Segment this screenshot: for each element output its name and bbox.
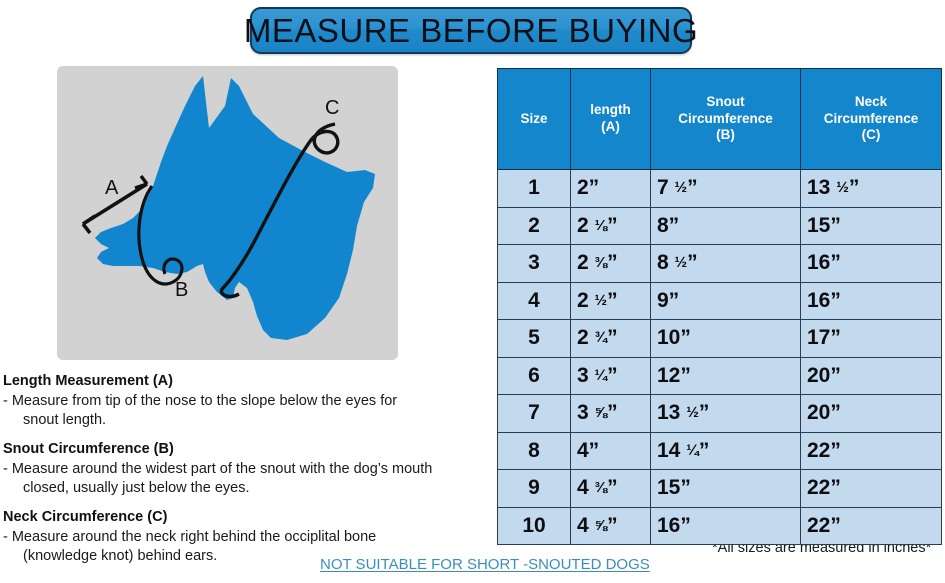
table-row: 12”7 ½”13 ½” xyxy=(498,170,942,208)
column-header-snout-circumference: Snout Circumference (B) xyxy=(651,69,801,170)
column-header-line-2: (A) xyxy=(601,119,620,134)
column-header-neck-circumference: Neck Circumference (C) xyxy=(801,69,942,170)
table-row: 84”14 ¼”22” xyxy=(498,432,942,470)
cell-size: 3 xyxy=(498,245,571,283)
cell-snout-circumference: 7 ½” xyxy=(651,170,801,208)
page-title: MEASURE BEFORE BUYING xyxy=(244,12,698,50)
cell-neck-circumference: 16” xyxy=(801,282,942,320)
cell-snout-circumference: 15” xyxy=(651,470,801,508)
label-b: B xyxy=(175,279,188,301)
instruction-line-2: snout length. xyxy=(7,411,491,431)
column-header-size: Size xyxy=(498,69,571,170)
cell-snout-circumference: 16” xyxy=(651,507,801,545)
table-row: 104 ⅝”16”22” xyxy=(498,507,942,545)
instruction-group-length: Length Measurement (A) - Measure from ti… xyxy=(3,372,491,431)
cell-neck-circumference: 20” xyxy=(801,357,942,395)
table-row: 42 ½”9”16” xyxy=(498,282,942,320)
dog-head-diagram: A B C xyxy=(57,66,398,360)
cell-neck-circumference: 13 ½” xyxy=(801,170,942,208)
cell-snout-circumference: 10” xyxy=(651,320,801,358)
cell-size: 9 xyxy=(498,470,571,508)
instruction-line-1: - Measure around the widest part of the … xyxy=(3,461,432,477)
cell-length: 2 ¾” xyxy=(571,320,651,358)
column-header-line-2: Circumference xyxy=(824,111,919,126)
instruction-heading-neck: Neck Circumference (C) xyxy=(3,508,491,527)
table-header-row: Size length (A) Snout Circumference (B) … xyxy=(498,69,942,170)
cell-snout-circumference: 12” xyxy=(651,357,801,395)
page-title-banner: MEASURE BEFORE BUYING xyxy=(250,7,692,54)
cell-size: 7 xyxy=(498,395,571,433)
measurement-instructions: Length Measurement (A) - Measure from ti… xyxy=(3,372,491,576)
instruction-line-2: closed, usually just below the eyes. xyxy=(7,479,491,499)
column-header-line-1: Neck xyxy=(855,94,887,109)
cell-snout-circumference: 8” xyxy=(651,207,801,245)
cell-length: 2” xyxy=(571,170,651,208)
label-a: A xyxy=(105,177,119,199)
column-header-line-1: length xyxy=(590,102,631,117)
cell-length: 2 ⅛” xyxy=(571,207,651,245)
not-suitable-note: NOT SUITABLE FOR SHORT -SNOUTED DOGS xyxy=(320,556,650,573)
cell-neck-circumference: 22” xyxy=(801,470,942,508)
column-header-line-1: Snout xyxy=(706,94,744,109)
table-row: 63 ¼”12”20” xyxy=(498,357,942,395)
cell-snout-circumference: 13 ½” xyxy=(651,395,801,433)
table-row: 94 ⅜”15”22” xyxy=(498,470,942,508)
column-header-length: length (A) xyxy=(571,69,651,170)
cell-size: 4 xyxy=(498,282,571,320)
cell-length: 2 ½” xyxy=(571,282,651,320)
cell-neck-circumference: 16” xyxy=(801,245,942,283)
cell-size: 2 xyxy=(498,207,571,245)
cell-length: 4 ⅜” xyxy=(571,470,651,508)
instruction-body-length: - Measure from tip of the nose to the sl… xyxy=(3,392,491,431)
column-header-line-3: (C) xyxy=(862,127,881,142)
column-header-line-1: Size xyxy=(520,111,547,126)
column-header-line-2: Circumference xyxy=(678,111,773,126)
table-row: 22 ⅛”8”15” xyxy=(498,207,942,245)
table-row: 73 ⅝”13 ½”20” xyxy=(498,395,942,433)
instruction-group-snout: Snout Circumference (B) - Measure around… xyxy=(3,440,491,499)
cell-neck-circumference: 22” xyxy=(801,507,942,545)
instruction-body-snout: - Measure around the widest part of the … xyxy=(3,460,491,499)
cell-neck-circumference: 20” xyxy=(801,395,942,433)
instruction-heading-snout: Snout Circumference (B) xyxy=(3,440,491,459)
cell-size: 1 xyxy=(498,170,571,208)
cell-snout-circumference: 9” xyxy=(651,282,801,320)
cell-snout-circumference: 8 ½” xyxy=(651,245,801,283)
instruction-line-1: - Measure around the neck right behind t… xyxy=(3,529,376,545)
cell-size: 10 xyxy=(498,507,571,545)
cell-length: 3 ⅝” xyxy=(571,395,651,433)
instruction-heading-length: Length Measurement (A) xyxy=(3,372,491,391)
cell-length: 3 ¼” xyxy=(571,357,651,395)
cell-size: 5 xyxy=(498,320,571,358)
cell-neck-circumference: 17” xyxy=(801,320,942,358)
cell-size: 8 xyxy=(498,432,571,470)
instruction-line-1: - Measure from tip of the nose to the sl… xyxy=(3,393,397,409)
cell-neck-circumference: 22” xyxy=(801,432,942,470)
cell-length: 4 ⅝” xyxy=(571,507,651,545)
cell-size: 6 xyxy=(498,357,571,395)
cell-snout-circumference: 14 ¼” xyxy=(651,432,801,470)
table-row: 52 ¾”10”17” xyxy=(498,320,942,358)
label-c: C xyxy=(325,97,339,119)
cell-length: 4” xyxy=(571,432,651,470)
size-chart-table: Size length (A) Snout Circumference (B) … xyxy=(497,68,942,545)
table-row: 32 ⅜”8 ½”16” xyxy=(498,245,942,283)
cell-length: 2 ⅜” xyxy=(571,245,651,283)
dog-measurement-illustration: A B C xyxy=(57,66,398,360)
column-header-line-3: (B) xyxy=(716,127,735,142)
cell-neck-circumference: 15” xyxy=(801,207,942,245)
